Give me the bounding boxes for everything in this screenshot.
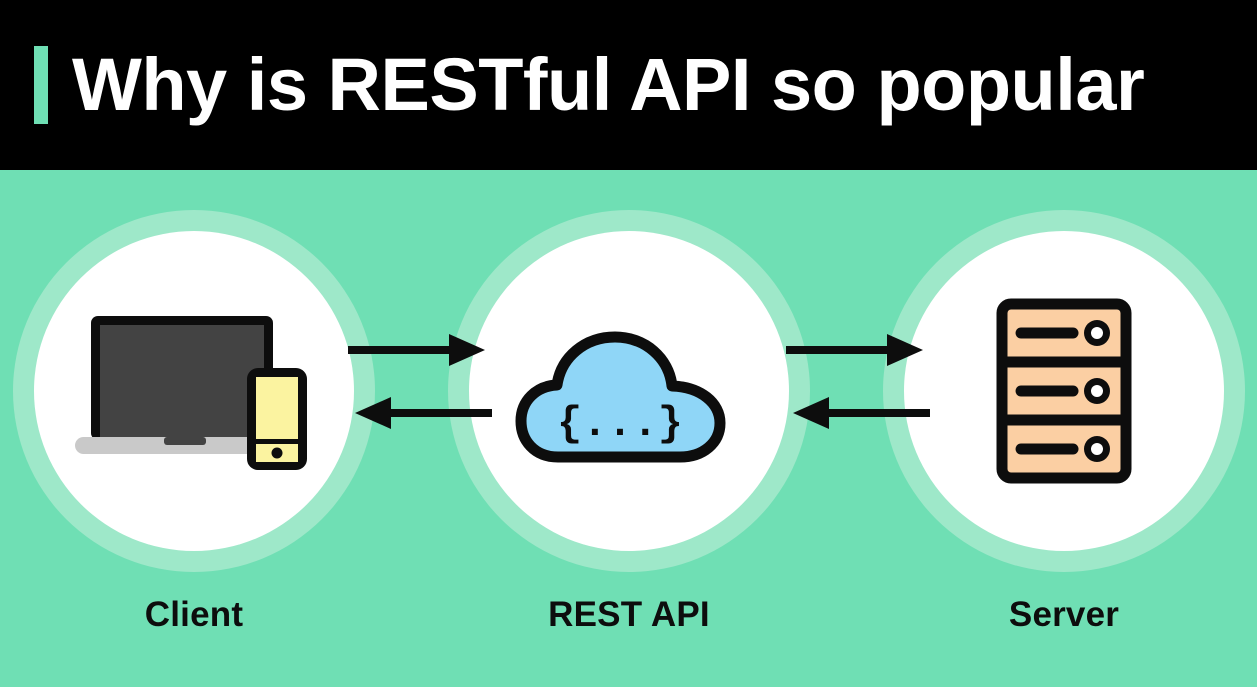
node-label-server: Server: [883, 595, 1245, 635]
slide-header: Why is RESTful API so popular: [0, 0, 1257, 170]
cloud-json-label: {...}: [557, 400, 683, 448]
arrow-request-right: [348, 334, 485, 366]
arrow-response-left: [355, 397, 492, 429]
diagram-node-restapi[interactable]: {...}: [448, 210, 810, 572]
server-led-center: [1091, 327, 1103, 339]
slide-root: Why is RESTful API so popular: [0, 0, 1257, 687]
server-svg: [989, 296, 1139, 486]
laptop-screen: [100, 325, 264, 438]
diagram-canvas: {...}: [0, 170, 1257, 687]
diagram-node-client[interactable]: [13, 210, 375, 572]
server-led-center: [1091, 443, 1103, 455]
arrow-request-right: [786, 334, 923, 366]
connector-client-restapi: [345, 330, 495, 430]
phone-screen: [256, 377, 298, 439]
server-rack-icon: [904, 231, 1224, 551]
arrows-left-svg: [345, 330, 495, 430]
server-led-center: [1091, 385, 1103, 397]
node-label-restapi: REST API: [448, 595, 810, 635]
cloud-svg: {...}: [514, 311, 744, 471]
title-accent-bar: [34, 46, 48, 124]
phone-home-button: [272, 447, 283, 458]
arrow-response-left: [793, 397, 930, 429]
connector-restapi-server: [783, 330, 933, 430]
page-title: Why is RESTful API so popular: [72, 48, 1144, 122]
laptop-phone-icon: [34, 231, 354, 551]
diagram-node-server[interactable]: [883, 210, 1245, 572]
cloud-json-icon: {...}: [469, 231, 789, 551]
laptop-notch: [164, 437, 206, 445]
arrows-right-svg: [783, 330, 933, 430]
node-label-client: Client: [13, 595, 375, 635]
laptop-phone-svg: [69, 304, 319, 479]
